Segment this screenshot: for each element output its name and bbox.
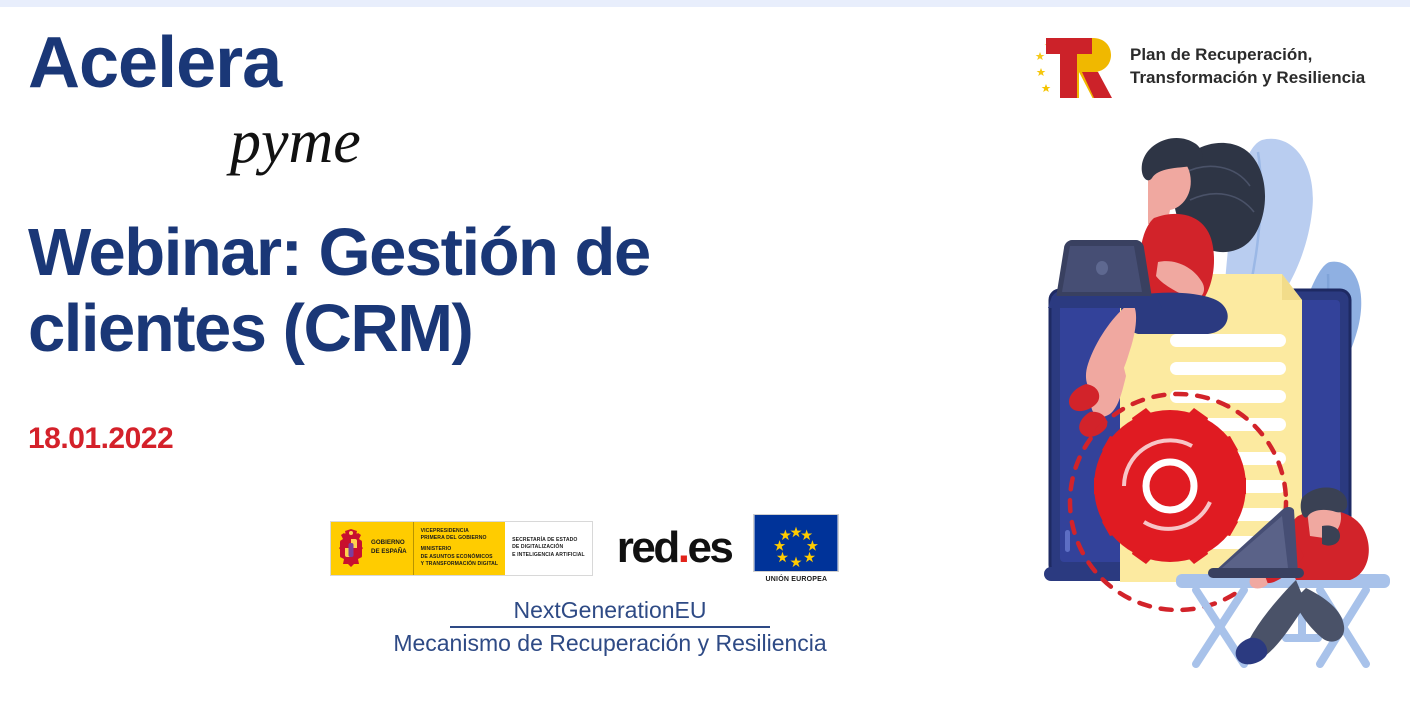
plan-tr-mark-icon	[1032, 30, 1116, 104]
footer-logo-strip: GOBIERNO DE ESPAÑA VICEPRESIDENCIA PRIME…	[330, 512, 890, 584]
brand-pyme-text: pyme	[230, 111, 361, 173]
secretaria-text-block: SECRETARÍA DE ESTADO DE DIGITALIZACIÓN E…	[512, 537, 585, 559]
european-union-logo: UNIÓN EUROPEA	[753, 514, 839, 583]
gobierno-name-line2: DE ESPAÑA	[371, 548, 407, 557]
webinar-illustration	[1030, 112, 1410, 672]
vicepresidencia-line2: PRIMERA DEL GOBIERNO	[421, 535, 498, 542]
vicepresidencia-line1: VICEPRESIDENCIA	[421, 528, 498, 535]
acelera-pyme-logo: Acelera pyme	[28, 27, 448, 162]
gobierno-name-line1: GOBIERNO	[371, 539, 407, 548]
ministerio-text-block: MINISTERIO DE ASUNTOS ECONÓMICOS Y TRANS…	[421, 546, 498, 568]
redes-dot: .	[678, 526, 688, 570]
gobierno-crest-block: GOBIERNO DE ESPAÑA	[331, 522, 413, 575]
plan-label-line1: Plan de Recuperación,	[1130, 44, 1365, 67]
top-accent-band	[0, 0, 1410, 7]
page-title: Webinar: Gestión de clientes (CRM)	[28, 215, 888, 366]
ngeu-divider	[450, 626, 770, 628]
page-title-line1: Webinar: Gestión de	[28, 215, 888, 291]
redes-part1: red	[617, 526, 678, 570]
ministerio-line2: DE ASUNTOS ECONÓMICOS	[421, 554, 498, 561]
plan-recuperacion-logo: Plan de Recuperación, Transformación y R…	[1032, 30, 1365, 104]
event-date: 18.01.2022	[28, 422, 173, 456]
plan-label-line2: Transformación y Resiliencia	[1130, 67, 1365, 90]
ngeu-subtitle: Mecanismo de Recuperación y Resiliencia	[390, 630, 830, 656]
page-title-line2: clientes (CRM)	[28, 291, 888, 367]
eu-caption: UNIÓN EUROPEA	[766, 576, 828, 583]
gobierno-de-espana-logo: GOBIERNO DE ESPAÑA VICEPRESIDENCIA PRIME…	[330, 521, 593, 576]
ministerio-line1: MINISTERIO	[421, 546, 498, 553]
brand-acelera-text: Acelera	[28, 27, 281, 99]
eu-flag-icon	[753, 514, 839, 572]
plan-recuperacion-label: Plan de Recuperación, Transformación y R…	[1130, 44, 1365, 90]
secretaria-estado-block: SECRETARÍA DE ESTADO DE DIGITALIZACIÓN E…	[505, 522, 592, 575]
ngeu-title: NextGenerationEU	[390, 597, 830, 623]
ministerio-line3: Y TRANSFORMACIÓN DIGITAL	[421, 561, 498, 568]
gobierno-name: GOBIERNO DE ESPAÑA	[371, 539, 407, 557]
spain-coat-of-arms-icon	[336, 527, 366, 569]
secretaria-line3: E INTELIGENCIA ARTIFICIAL	[512, 552, 585, 559]
red-es-logo: red.es	[617, 526, 732, 570]
redes-part2: es	[687, 526, 731, 570]
secretaria-line2: DE DIGITALIZACIÓN	[512, 544, 585, 551]
ministerio-block: VICEPRESIDENCIA PRIMERA DEL GOBIERNO MIN…	[413, 522, 505, 575]
nextgeneration-eu-caption: NextGenerationEU Mecanismo de Recuperaci…	[390, 597, 830, 657]
vicepresidencia-block: VICEPRESIDENCIA PRIMERA DEL GOBIERNO	[421, 528, 498, 542]
slide-canvas: Acelera pyme Webinar: Gestión de cliente…	[0, 0, 1410, 708]
